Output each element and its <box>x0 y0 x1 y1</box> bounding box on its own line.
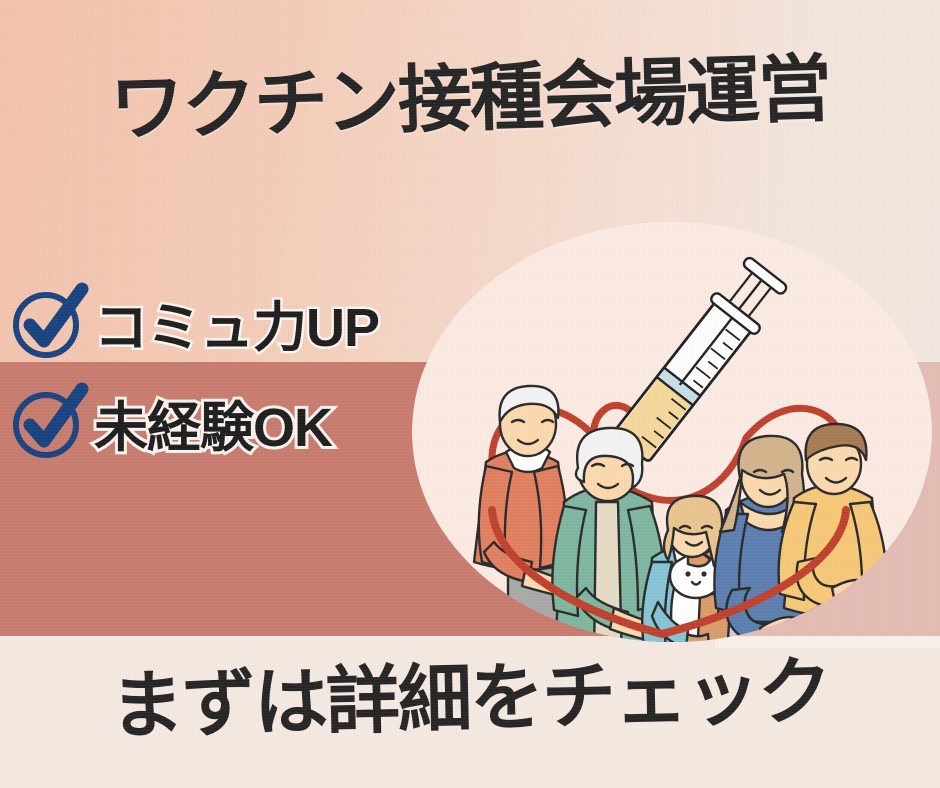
list-item: コミュ力UP <box>8 272 428 372</box>
list-item-label: コミュ力UP <box>94 283 379 362</box>
family-vaccination-illustration <box>400 210 940 655</box>
benefit-list: コミュ力UP 未経験OK <box>8 272 428 472</box>
circle-check-icon <box>8 281 90 363</box>
circle-check-icon <box>8 381 90 463</box>
list-item-label: 未経験OK <box>94 383 332 462</box>
list-item: 未経験OK <box>8 372 428 472</box>
poster-canvas: ワクチン接種会場運営 コミュ力UP 未経験OK まずは詳細をチェック <box>0 0 940 788</box>
call-to-action-text: まずは詳細をチェック <box>0 652 940 746</box>
